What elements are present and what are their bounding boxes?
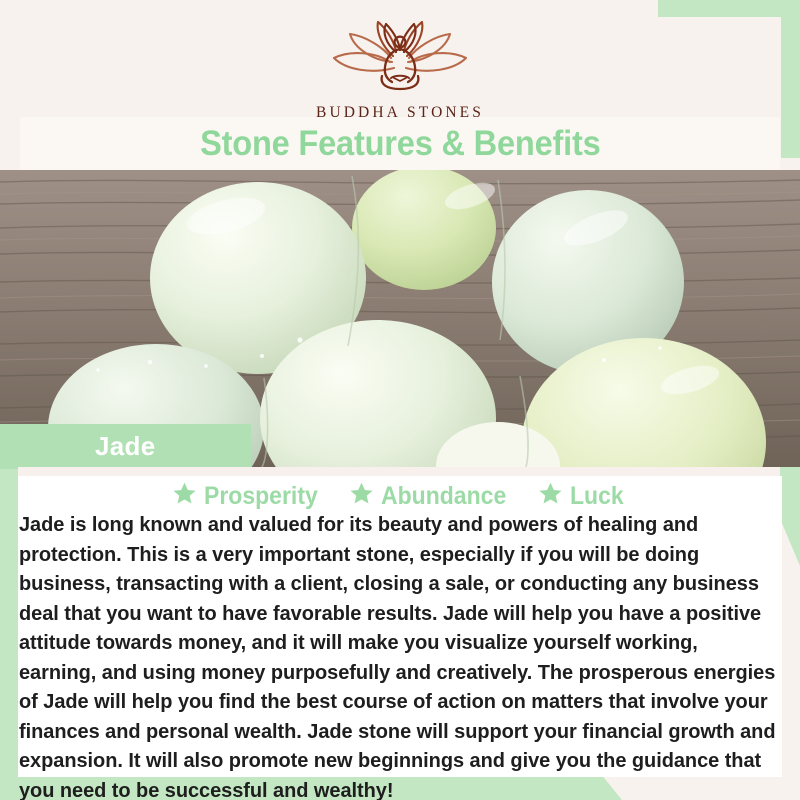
benefits-row: Prosperity Abundance Luck (0, 480, 800, 512)
stone-benefits-poster: BUDDHA STONES Stone Features & Benefits (0, 0, 800, 800)
decor-bar-top-right-horizontal (658, 0, 800, 17)
stone-photo (0, 170, 800, 467)
star-icon (349, 481, 374, 511)
benefit-label: Luck (570, 482, 624, 511)
brand-block: BUDDHA STONES (0, 18, 800, 122)
stone-name-chip: Jade (0, 424, 251, 469)
benefit-item-abundance: Abundance (349, 481, 517, 511)
benefit-label: Abundance (381, 482, 506, 511)
stone-name-label: Jade (95, 431, 155, 462)
benefit-label: Prosperity (204, 482, 318, 511)
title-band: Stone Features & Benefits (20, 117, 780, 170)
page-title: Stone Features & Benefits (200, 124, 601, 164)
stone-photo-graphic (0, 170, 800, 467)
lotus-meditation-logo-icon (0, 18, 800, 99)
star-icon (538, 481, 563, 511)
description-text: Jade is long known and valued for its be… (19, 511, 775, 800)
star-icon (172, 481, 197, 511)
benefit-item-luck: Luck (538, 481, 628, 511)
benefit-item-prosperity: Prosperity (172, 481, 328, 511)
